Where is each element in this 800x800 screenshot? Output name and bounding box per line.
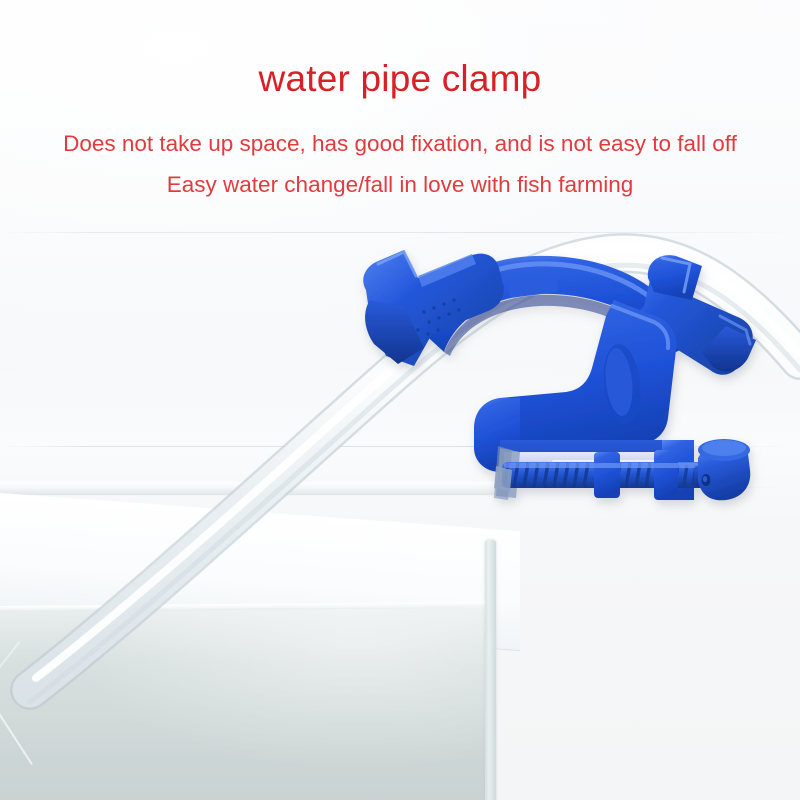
screw-collar (594, 452, 620, 498)
product-image: water pipe clamp Does not take up space,… (0, 0, 800, 800)
clamp-assembly (363, 250, 756, 500)
clamp-left-arm (363, 250, 504, 366)
water-pipe-clamp (0, 0, 800, 800)
knob-top-highlight (702, 440, 746, 456)
clamp-thumb-knob (694, 439, 750, 500)
knob-pin-hole-inner (703, 476, 707, 482)
subtitle-line-2: Easy water change/fall in love with fish… (0, 170, 800, 200)
screw-collar (654, 450, 678, 500)
screw-highlight (504, 463, 710, 468)
page-title: water pipe clamp (0, 57, 800, 101)
screw-tip-pad (494, 466, 512, 492)
subtitle-line-1: Does not take up space, has good fixatio… (0, 129, 800, 159)
